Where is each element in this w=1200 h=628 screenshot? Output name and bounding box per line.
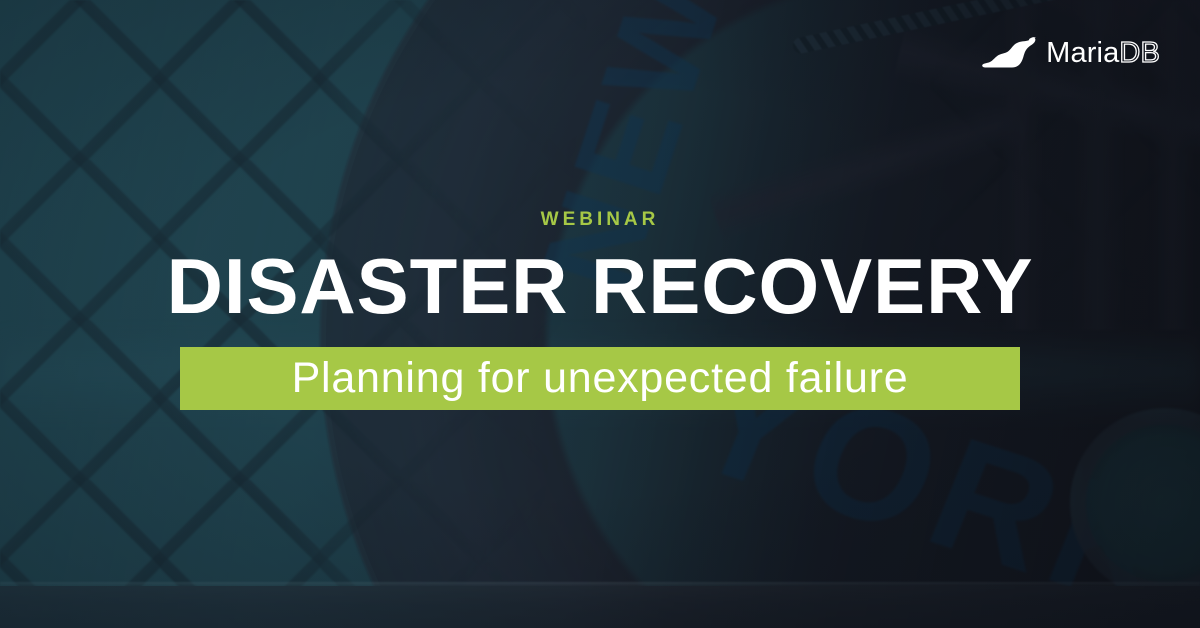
mariadb-logo[interactable]: MariaDB [981,36,1160,70]
mariadb-seal-icon [981,36,1037,70]
banner-content: MariaDB WEBINAR DISASTER RECOVERY Planni… [0,0,1200,628]
logo-word-maria: Maria [1046,37,1119,69]
webinar-banner: NEW YORK MariaDB WEBINAR DISASTER RECOVE… [0,0,1200,628]
logo-word-db: DB [1119,37,1160,69]
page-title: DISASTER RECOVERY [0,247,1200,325]
subtitle-banner: Planning for unexpected failure [180,347,1020,410]
eyebrow-label: WEBINAR [0,209,1200,231]
mariadb-wordmark: MariaDB [1046,39,1160,68]
subtitle-text: Planning for unexpected failure [292,357,909,400]
